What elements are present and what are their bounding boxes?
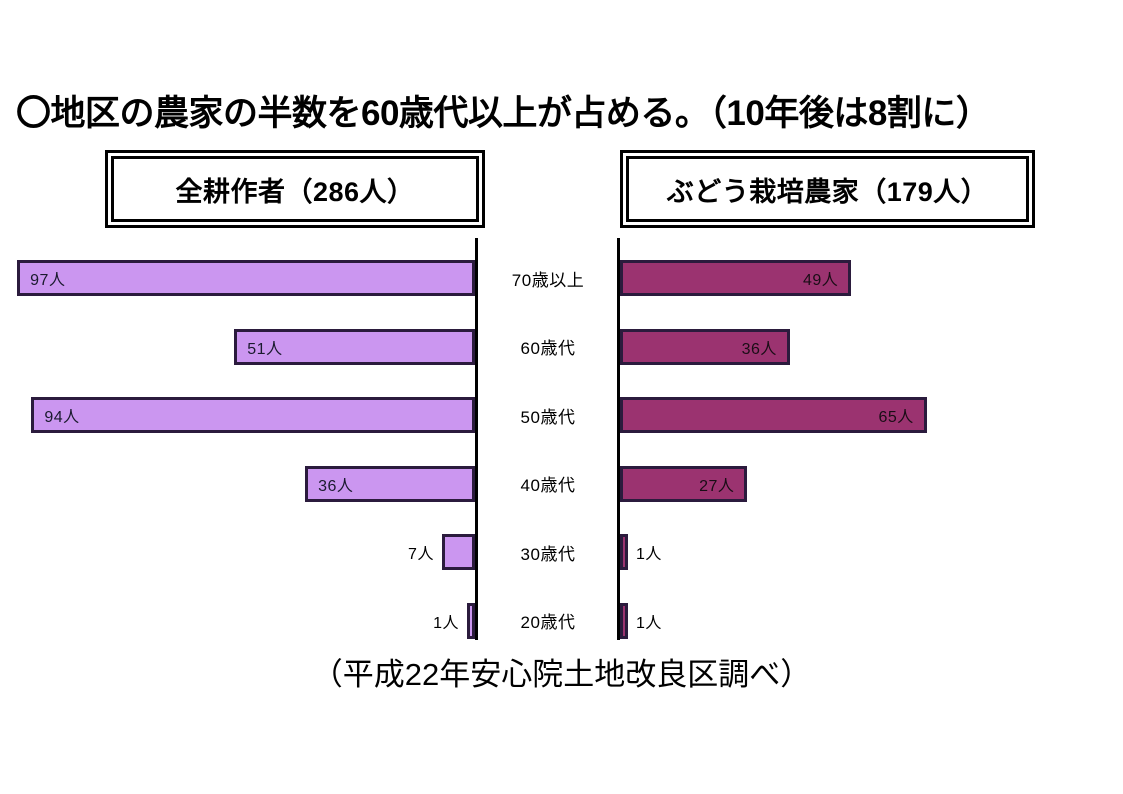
bar-right-value: 36人: [742, 335, 777, 359]
page-title: 〇地区の農家の半数を60歳代以上が占める。（10年後は8割に）: [16, 92, 1111, 140]
bar-right-20歳代: [620, 603, 628, 639]
header-box-left-inner: 全耕作者（286人）: [111, 156, 479, 222]
age-category-label: 20歳代: [479, 603, 617, 639]
bar-left-40歳代: 36人: [305, 466, 475, 502]
bar-right-value-outside: 1人: [636, 603, 756, 639]
bar-left-value: 94人: [44, 403, 79, 427]
bar-left-value-outside: 1人: [0, 603, 459, 639]
chart-row: 94人50歳代65人: [0, 397, 1123, 433]
header-box-right: ぶどう栽培農家（179人）: [620, 150, 1035, 228]
bar-left-70歳以上: 97人: [17, 260, 475, 296]
bar-left-value: 97人: [30, 266, 65, 290]
bar-left-value: 51人: [247, 335, 282, 359]
chart-row: 7人30歳代1人: [0, 534, 1123, 570]
bar-left-60歳代: 51人: [234, 329, 475, 365]
bar-right-30歳代: [620, 534, 628, 570]
bar-right-value: 49人: [803, 266, 838, 290]
chart-row: 36人40歳代27人: [0, 466, 1123, 502]
age-category-label: 60歳代: [479, 329, 617, 365]
bar-right-40歳代: 27人: [620, 466, 747, 502]
axis-line-right: [617, 238, 620, 640]
bar-left-20歳代: [467, 603, 475, 639]
axis-line-left: [475, 238, 478, 640]
header-label-left: 全耕作者（286人）: [175, 170, 414, 209]
slide-canvas: 〇地区の農家の半数を60歳代以上が占める。（10年後は8割に） 全耕作者（286…: [0, 0, 1123, 794]
age-category-label: 70歳以上: [479, 260, 617, 296]
chart-row: 1人20歳代1人: [0, 603, 1123, 639]
bar-right-value-outside: 1人: [636, 534, 756, 570]
bar-right-value: 65人: [878, 403, 913, 427]
bar-left-value-outside: 7人: [0, 534, 434, 570]
age-category-label: 30歳代: [479, 534, 617, 570]
header-box-right-inner: ぶどう栽培農家（179人）: [626, 156, 1029, 222]
header-label-right: ぶどう栽培農家（179人）: [667, 170, 989, 209]
age-category-label: 40歳代: [479, 466, 617, 502]
chart-row: 97人70歳以上49人: [0, 260, 1123, 296]
bar-right-60歳代: 36人: [620, 329, 790, 365]
bar-left-value: 36人: [318, 472, 353, 496]
bar-left-50歳代: 94人: [31, 397, 475, 433]
bar-right-value: 27人: [699, 472, 734, 496]
header-box-left: 全耕作者（286人）: [105, 150, 485, 228]
bar-right-70歳以上: 49人: [620, 260, 851, 296]
butterfly-chart-plot-area: 97人70歳以上49人51人60歳代36人94人50歳代65人36人40歳代27…: [0, 238, 1123, 640]
bar-right-50歳代: 65人: [620, 397, 927, 433]
age-category-label: 50歳代: [479, 397, 617, 433]
chart-row: 51人60歳代36人: [0, 329, 1123, 365]
source-caption: （平成22年安心院土地改良区調べ）: [0, 655, 1123, 695]
bar-left-30歳代: [442, 534, 475, 570]
